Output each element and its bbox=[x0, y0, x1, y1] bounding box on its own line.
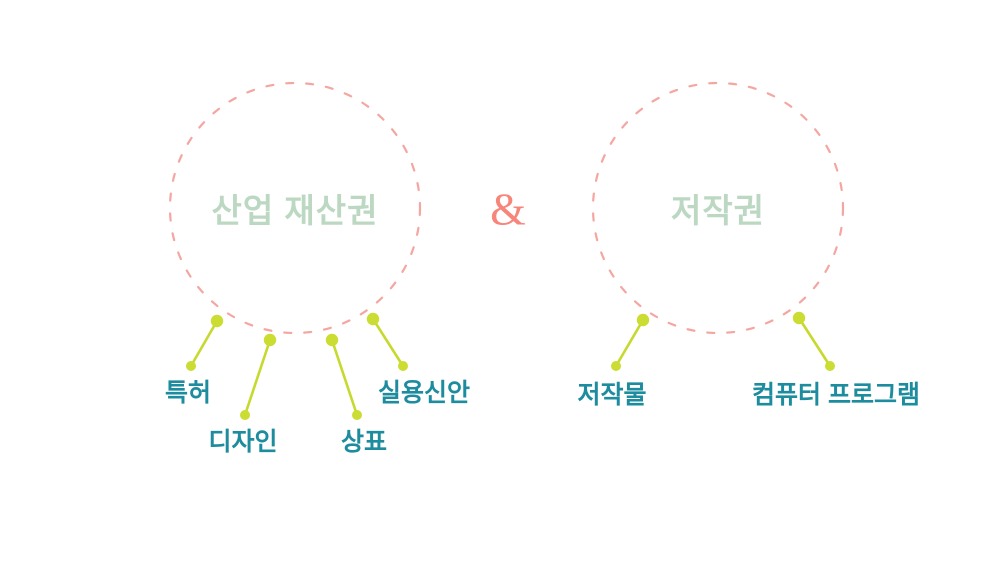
circle-title-copyright: 저작권 bbox=[671, 184, 765, 232]
connector-work bbox=[611, 314, 649, 371]
circle-title-industrial-property: 산업 재산권 bbox=[212, 184, 379, 232]
connector-patent bbox=[186, 315, 223, 371]
leaf-label-patent[interactable]: 특허 bbox=[165, 373, 211, 409]
connector-trademark bbox=[326, 334, 362, 420]
leaf-label-utility-model[interactable]: 실용신안 bbox=[378, 373, 470, 409]
diagram-canvas: 산업 재산권 저작권 & 특허 디자인 상표 실용신안 저작물 컴퓨터 프로그램 bbox=[0, 0, 1000, 563]
leaf-label-work[interactable]: 저작물 bbox=[577, 375, 646, 411]
leaf-label-design[interactable]: 디자인 bbox=[208, 422, 277, 458]
connector-design bbox=[240, 334, 276, 420]
connector-computer-program bbox=[793, 312, 835, 371]
connector-utility-model bbox=[367, 313, 408, 371]
leaf-label-computer-program[interactable]: 컴퓨터 프로그램 bbox=[752, 375, 920, 411]
diagram-vector-layer bbox=[0, 0, 1000, 563]
ampersand-separator: & bbox=[490, 183, 526, 236]
leaf-label-trademark[interactable]: 상표 bbox=[341, 422, 387, 458]
